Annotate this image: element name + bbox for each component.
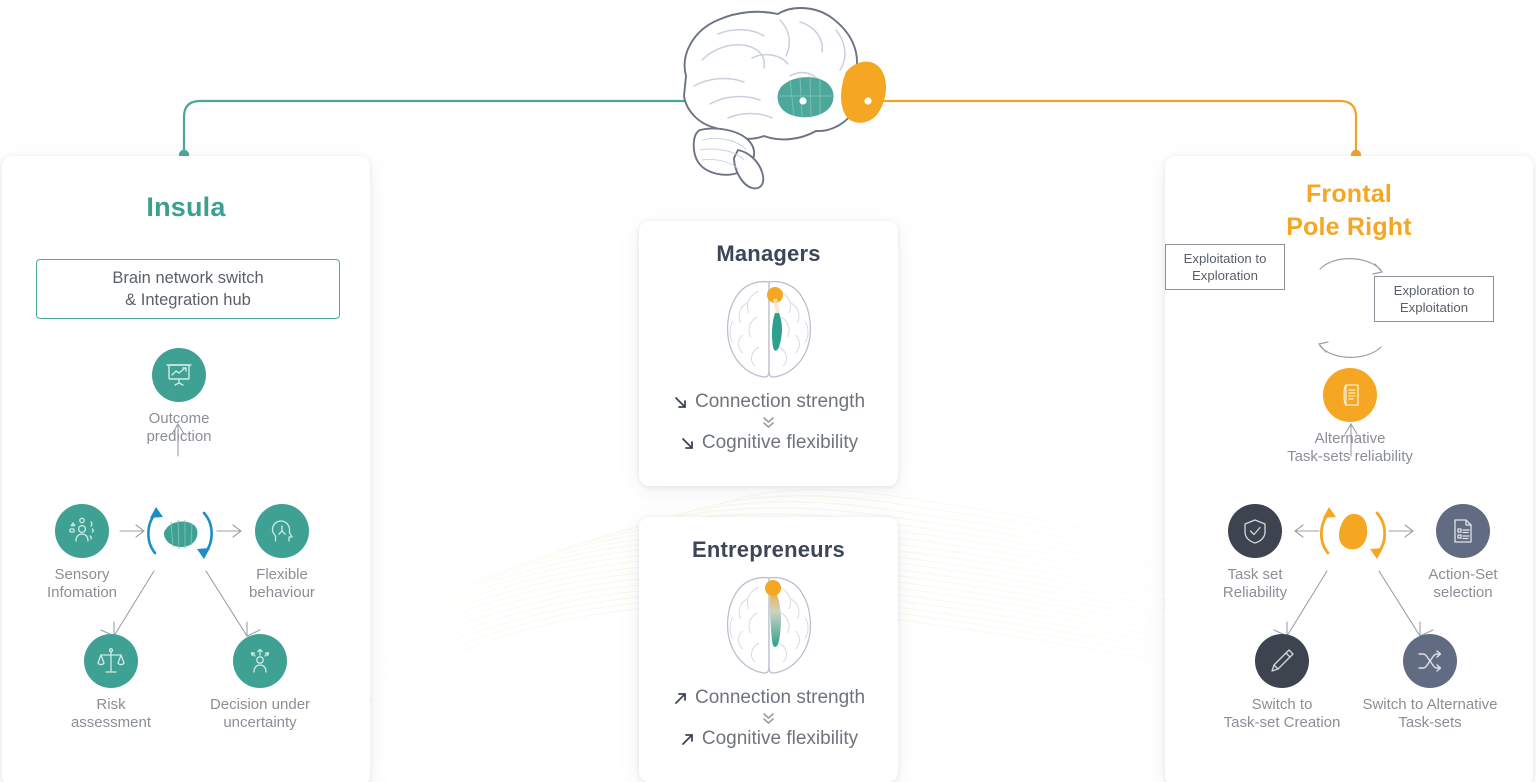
action-set-selection-label-2: selection (1408, 584, 1518, 602)
ex-box-2-line1: Exploration to (1394, 282, 1475, 299)
decision-uncertainty-label-1: Decision under (200, 696, 320, 714)
managers-metric-label-0: Connection strength (695, 391, 865, 413)
card-managers: Managers (639, 221, 898, 486)
flexible-behaviour-label-2: behaviour (227, 584, 337, 602)
connector-frontal (868, 101, 1356, 152)
insula-statement-line1: Brain network switch (112, 267, 263, 289)
head-flexible-icon (255, 504, 309, 558)
managers-title: Managers (639, 241, 898, 267)
node-decision-under-uncertainty[interactable]: Decision under uncertainty (200, 634, 320, 733)
switch-taskset-creation-label-1: Switch to (1217, 696, 1347, 714)
ex-box-1-line1: Exploitation to (1184, 250, 1267, 267)
switch-taskset-creation-label-2: Task-set Creation (1217, 714, 1347, 732)
node-risk-assessment[interactable]: Risk assessment (56, 634, 166, 733)
entrepreneurs-title: Entrepreneurs (639, 537, 898, 563)
brain-lateral-illustration (640, 0, 900, 190)
scales-balance-icon (84, 634, 138, 688)
outcome-prediction-label-2: prediction (124, 428, 234, 446)
ex-box-2-line2: Exploitation (1394, 299, 1475, 316)
insula-statement-line2: & Integration hub (112, 289, 263, 311)
brain-region-insula (778, 77, 834, 117)
managers-metric-row-0: Connection strength (639, 391, 898, 413)
shuffle-icon (1403, 634, 1457, 688)
task-set-reliability-label-2: Reliability (1200, 584, 1310, 602)
risk-assessment-label-1: Risk (56, 696, 166, 714)
frontal-pole-shape-icon (1311, 491, 1395, 575)
brain-region-frontal-dot (765, 580, 781, 596)
entrepreneurs-metric-row-1: Cognitive flexibility (639, 728, 898, 750)
sensory-information-label-1: Sensory (27, 566, 137, 584)
node-sensory-information[interactable]: Sensory Infomation (27, 504, 137, 603)
infographic-stage: Insula Brain network switch & Integratio… (0, 0, 1536, 782)
shield-check-icon (1228, 504, 1282, 558)
arrow-down-right-icon (672, 394, 689, 411)
flexible-behaviour-label-1: Flexible (227, 566, 337, 584)
node-task-set-reliability[interactable]: Task set Reliability (1200, 504, 1310, 603)
switch-alt-tasksets-label-1: Switch to Alternative (1350, 696, 1510, 714)
presentation-chart-icon (152, 348, 206, 402)
brain-region-frontal-pole (841, 62, 886, 123)
entrepreneurs-metric-label-1: Cognitive flexibility (702, 728, 858, 750)
node-alternative-tasksets-reliability[interactable]: Alternative Task-sets reliability (1275, 368, 1425, 467)
task-set-reliability-label-1: Task set (1200, 566, 1310, 584)
alt-tasksets-label-1: Alternative (1275, 430, 1425, 448)
card-frontal-pole-right: Frontal Pole Right (1165, 156, 1533, 782)
sensory-person-icon (55, 504, 109, 558)
entrepreneurs-metric-row-0: Connection strength (639, 687, 898, 709)
entrepreneurs-metric-label-0: Connection strength (695, 687, 865, 709)
sensory-information-label-2: Infomation (27, 584, 137, 602)
card-insula: Insula Brain network switch & Integratio… (2, 156, 370, 782)
insula-shape-icon (138, 491, 222, 575)
double-chevron-down-icon (639, 414, 898, 431)
decision-uncertainty-label-2: uncertainty (200, 714, 320, 732)
arrow-up-right-icon (672, 690, 689, 707)
node-outcome-prediction[interactable]: Outcome prediction (124, 348, 234, 447)
brain-top-view-icon (713, 573, 825, 683)
double-chevron-down-icon (639, 710, 898, 727)
brain-top-view-icon (713, 277, 825, 387)
node-switch-to-alternative-tasksets[interactable]: Switch to Alternative Task-sets (1350, 634, 1510, 733)
node-switch-to-taskset-creation[interactable]: Switch to Task-set Creation (1217, 634, 1347, 733)
outcome-prediction-label-1: Outcome (124, 410, 234, 428)
insula-title: Insula (2, 192, 370, 223)
checklist-document-icon (1436, 504, 1490, 558)
managers-metric-row-1: Cognitive flexibility (639, 432, 898, 454)
insula-statement-box: Brain network switch & Integration hub (36, 259, 340, 319)
card-entrepreneurs: Entrepreneurs (639, 517, 898, 782)
node-action-set-selection[interactable]: Action-Set selection (1408, 504, 1518, 603)
switch-alt-tasksets-label-2: Task-sets (1350, 714, 1510, 732)
exploitation-to-exploration-box[interactable]: Exploitation to Exploration (1165, 244, 1285, 290)
exploration-to-exploitation-box[interactable]: Exploration to Exploitation (1374, 276, 1494, 322)
action-set-selection-label-1: Action-Set (1408, 566, 1518, 584)
managers-metric-label-1: Cognitive flexibility (702, 432, 858, 454)
frontal-pole-title-line1: Frontal (1165, 178, 1533, 211)
risk-assessment-label-2: assessment (56, 714, 166, 732)
ex-box-1-line2: Exploration (1184, 267, 1267, 284)
document-list-icon (1323, 368, 1377, 422)
person-uncertainty-icon (233, 634, 287, 688)
pencil-icon (1255, 634, 1309, 688)
frontal-pole-title: Frontal Pole Right (1165, 178, 1533, 244)
alt-tasksets-label-2: Task-sets reliability (1275, 448, 1425, 466)
node-flexible-behaviour[interactable]: Flexible behaviour (227, 504, 337, 603)
arrow-down-right-icon (679, 435, 696, 452)
arrow-up-right-icon (679, 731, 696, 748)
frontal-pole-title-line2: Pole Right (1165, 211, 1533, 244)
